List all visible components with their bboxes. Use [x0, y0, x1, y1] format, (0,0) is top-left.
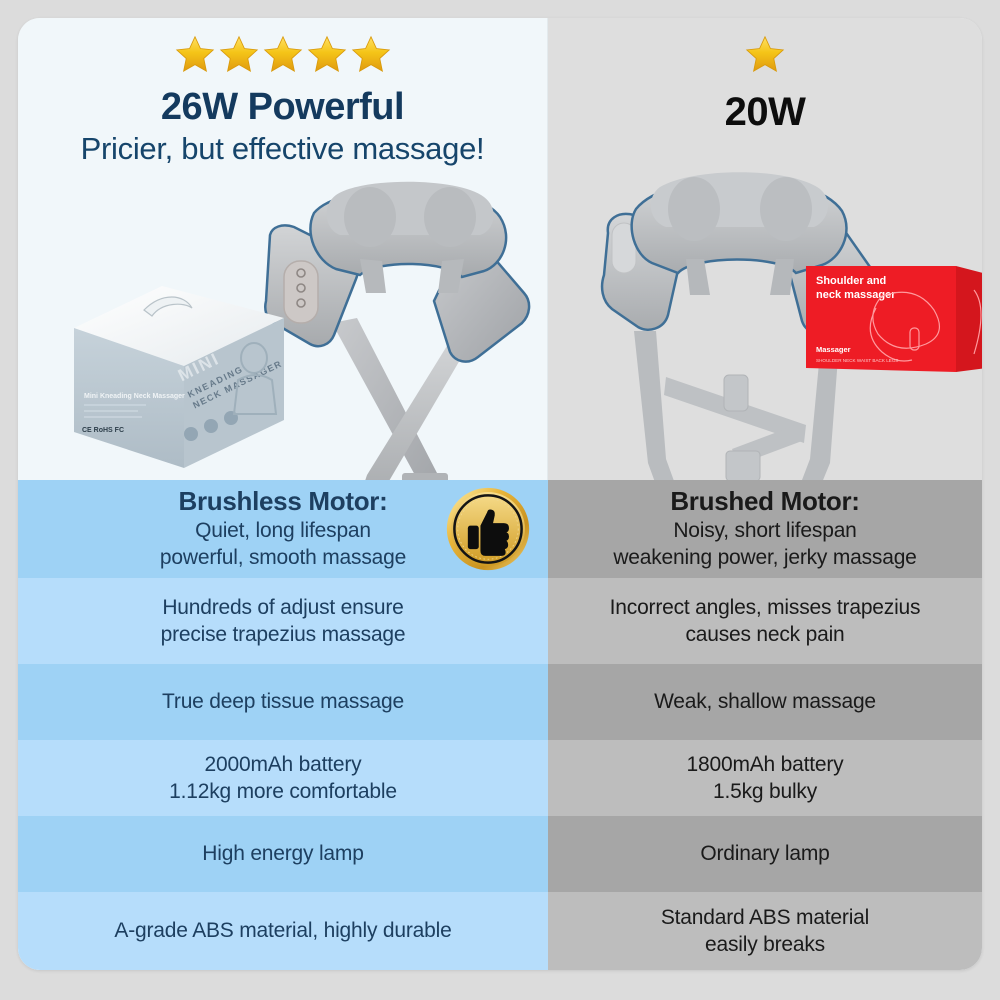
thumbs-up-badge: [446, 487, 530, 571]
comparison-cell-heading: Brushless Motor:: [178, 486, 387, 517]
comparison-cell-left: True deep tissue massage: [18, 664, 548, 740]
star-icon: [174, 34, 216, 80]
comparison-row: High energy lampOrdinary lamp: [18, 816, 982, 892]
comparison-cell-line: weakening power, jerky massage: [613, 544, 916, 571]
comparison-cell-line: True deep tissue massage: [162, 688, 404, 715]
comparison-table: Brushless Motor:Quiet, long lifespanpowe…: [18, 480, 982, 970]
comparison-cell-left: A-grade ABS material, highly durable: [18, 892, 548, 970]
svg-text:Massager: Massager: [816, 345, 851, 354]
comparison-cell-line: 1.5kg bulky: [713, 778, 817, 805]
star-icon: [174, 34, 216, 76]
comparison-cell-left: Brushless Motor:Quiet, long lifespanpowe…: [18, 480, 548, 578]
comparison-cell-heading: Brushed Motor:: [670, 486, 859, 517]
hero-right-panel: 20W: [548, 18, 982, 480]
comparison-cell-line: precise trapezius massage: [161, 621, 406, 648]
svg-text:SHOULDER NECK WAIST BACK LEGS: SHOULDER NECK WAIST BACK LEGS: [816, 358, 898, 363]
comparison-cell-right: Standard ABS materialeasily breaks: [548, 892, 982, 970]
comparison-cell-line: Ordinary lamp: [700, 840, 829, 867]
comparison-cell-line: Standard ABS material: [661, 904, 869, 931]
left-title: 26W Powerful: [18, 86, 547, 129]
comparison-cell-right: Brushed Motor:Noisy, short lifespanweake…: [548, 480, 982, 578]
comparison-cell-right: Ordinary lamp: [548, 816, 982, 892]
product-image-massager-left: [262, 173, 562, 518]
star-icon: [350, 34, 392, 76]
star-icon: [306, 34, 348, 76]
star-icon: [262, 34, 304, 76]
product-box-image-right: Shoulder and neck massager Massager SHOU…: [806, 256, 982, 378]
comparison-row: A-grade ABS material, highly durableStan…: [18, 892, 982, 970]
comparison-cell-line: Quiet, long lifespan: [195, 517, 371, 544]
comparison-cell-left: Hundreds of adjust ensureprecise trapezi…: [18, 578, 548, 664]
comparison-cell-line: Incorrect angles, misses trapezius: [610, 594, 921, 621]
comparison-cell-line: 1.12kg more comfortable: [169, 778, 397, 805]
star-icon: [218, 34, 260, 80]
star-icon: [262, 34, 304, 80]
right-title: 20W: [548, 90, 982, 135]
star-icon: [306, 34, 348, 80]
comparison-cell-line: easily breaks: [705, 931, 825, 958]
comparison-row: Hundreds of adjust ensureprecise trapezi…: [18, 578, 982, 664]
comparison-row: True deep tissue massageWeak, shallow ma…: [18, 664, 982, 740]
hero-left-panel: 26W Powerful Pricier, but effective mass…: [18, 18, 548, 480]
thumbs-up-badge-icon: [446, 487, 530, 571]
comparison-cell-line: powerful, smooth massage: [160, 544, 406, 571]
comparison-cell-left: High energy lamp: [18, 816, 548, 892]
product-box-image-left: MINI KNEADING NECK MASSAGER Mini Kneadin…: [66, 280, 291, 475]
comparison-cell-line: causes neck pain: [685, 621, 844, 648]
svg-text:Mini Kneading Neck Massager: Mini Kneading Neck Massager: [84, 393, 185, 400]
svg-text:CE RoHS FC: CE RoHS FC: [82, 427, 124, 434]
comparison-cell-line: Noisy, short lifespan: [673, 517, 856, 544]
comparison-row: Brushless Motor:Quiet, long lifespanpowe…: [18, 480, 982, 578]
rating-stars-right: [548, 34, 982, 80]
comparison-cell-line: 1800mAh battery: [687, 751, 844, 778]
comparison-row: 2000mAh battery1.12kg more comfortable18…: [18, 740, 982, 816]
comparison-cell-line: High energy lamp: [202, 840, 363, 867]
comparison-cell-line: Weak, shallow massage: [654, 688, 876, 715]
star-icon: [218, 34, 260, 76]
rating-stars-left: [18, 34, 547, 80]
comparison-cell-line: Hundreds of adjust ensure: [162, 594, 403, 621]
svg-text:Shoulder and: Shoulder and: [816, 275, 886, 287]
hero-section: 26W Powerful Pricier, but effective mass…: [18, 18, 982, 480]
comparison-cell-right: Incorrect angles, misses trapeziuscauses…: [548, 578, 982, 664]
star-icon: [744, 34, 786, 80]
left-subtitle: Pricier, but effective massage!: [18, 131, 547, 167]
comparison-cell-right: 1800mAh battery1.5kg bulky: [548, 740, 982, 816]
comparison-cell-line: 2000mAh battery: [205, 751, 362, 778]
infographic-page: 26W Powerful Pricier, but effective mass…: [0, 0, 1000, 1000]
comparison-cell-right: Weak, shallow massage: [548, 664, 982, 740]
star-icon: [744, 34, 786, 76]
star-icon: [350, 34, 392, 80]
comparison-cell-left: 2000mAh battery1.12kg more comfortable: [18, 740, 548, 816]
comparison-card: 26W Powerful Pricier, but effective mass…: [18, 18, 982, 970]
comparison-cell-line: A-grade ABS material, highly durable: [114, 917, 451, 944]
